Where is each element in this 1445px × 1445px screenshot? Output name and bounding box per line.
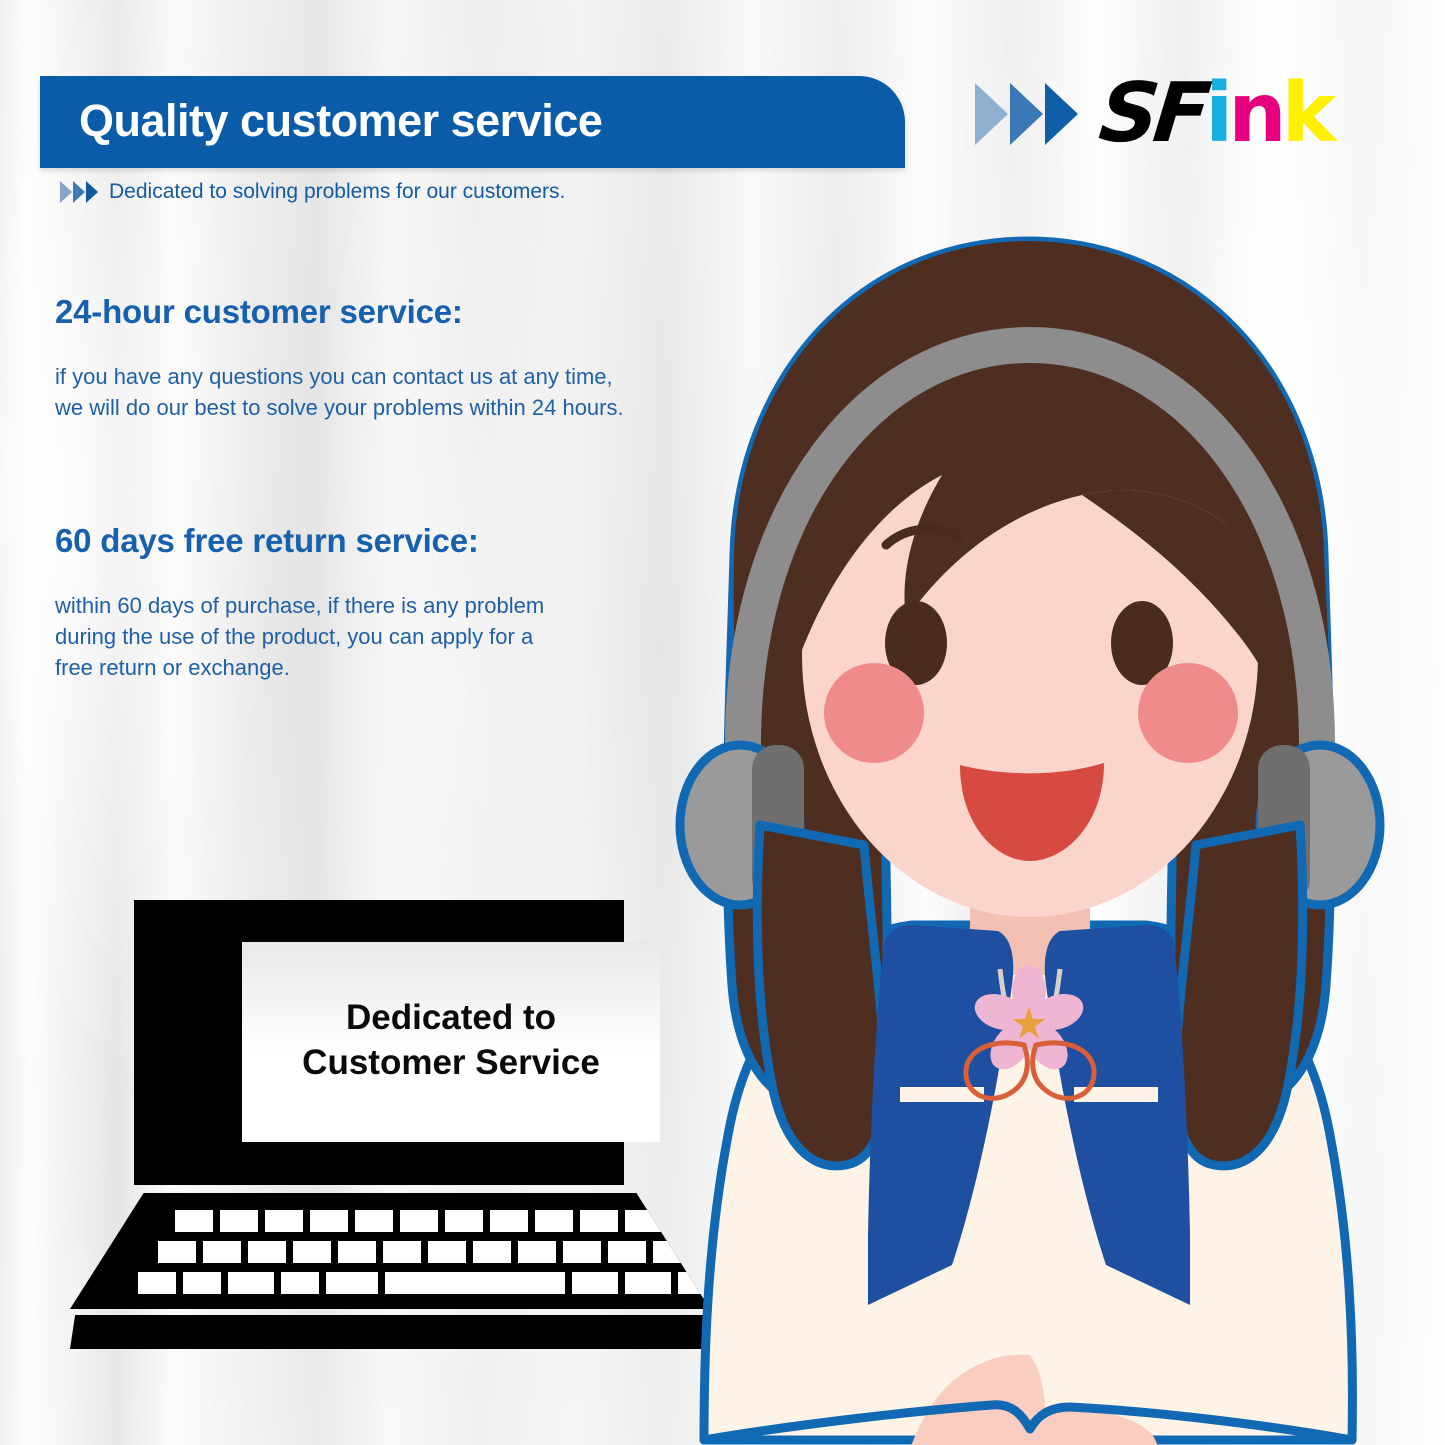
keyboard-key — [338, 1241, 376, 1263]
section-heading: 24-hour customer service: — [55, 293, 624, 331]
keyboard-key — [228, 1272, 274, 1294]
agent-blush-right — [1138, 663, 1238, 763]
screen-line-1: Dedicated to — [242, 995, 660, 1040]
agent-hair-lock-right — [1175, 825, 1303, 1166]
section-body-line: during the use of the product, you can a… — [55, 621, 544, 652]
keyboard-key — [563, 1241, 601, 1263]
keyboard-key — [138, 1272, 176, 1294]
service-section-24h: 24-hour customer service: if you have an… — [55, 293, 624, 423]
customer-service-agent-illustration — [612, 225, 1445, 1445]
page-title: Quality customer service — [79, 95, 602, 147]
section-heading: 60 days free return service: — [55, 522, 544, 560]
logo-chevron-icon — [975, 83, 1078, 145]
keyboard-key — [248, 1241, 286, 1263]
logo-letter-i: i — [1205, 80, 1228, 147]
keyboard-key — [326, 1272, 378, 1294]
section-body-line: free return or exchange. — [55, 652, 544, 683]
screen-line-2: Customer Service — [242, 1040, 660, 1085]
logo-letter-k: k — [1282, 80, 1332, 147]
agent-hair-lock-left — [757, 825, 885, 1166]
keyboard-key — [385, 1272, 565, 1294]
keyboard-key — [535, 1210, 573, 1232]
keyboard-key — [281, 1272, 319, 1294]
section-body-line: within 60 days of purchase, if there is … — [55, 590, 544, 621]
logo-letter-s: S — [1096, 80, 1157, 147]
keyboard-key — [158, 1241, 196, 1263]
keyboard-key — [355, 1210, 393, 1232]
section-body-line: we will do our best to solve your proble… — [55, 392, 624, 423]
brand-logo: S F i n k — [975, 80, 1331, 147]
keyboard-key — [490, 1210, 528, 1232]
keyboard-key — [518, 1241, 556, 1263]
section-body: within 60 days of purchase, if there is … — [55, 590, 544, 683]
keyboard-key — [400, 1210, 438, 1232]
logo-letter-f: F — [1151, 80, 1209, 147]
chevron-bullet-icon — [60, 181, 98, 203]
laptop-lid: Dedicated to Customer Service — [134, 900, 624, 1185]
keyboard-key — [310, 1210, 348, 1232]
keyboard-key — [445, 1210, 483, 1232]
tagline-text: Dedicated to solving problems for our cu… — [109, 180, 565, 204]
keyboard-key — [473, 1241, 511, 1263]
service-section-return: 60 days free return service: within 60 d… — [55, 522, 544, 683]
keyboard-key — [175, 1210, 213, 1232]
tagline-row: Dedicated to solving problems for our cu… — [60, 180, 565, 204]
laptop-screen: Dedicated to Customer Service — [242, 942, 660, 1142]
infographic-page: Quality customer service Dedicated to so… — [0, 0, 1445, 1445]
logo-letter-n: n — [1228, 80, 1281, 147]
header-banner: Quality customer service — [40, 76, 905, 168]
keyboard-key — [293, 1241, 331, 1263]
section-body: if you have any questions you can contac… — [55, 361, 624, 423]
agent-blush-left — [824, 663, 924, 763]
keyboard-key — [428, 1241, 466, 1263]
laptop-screen-text: Dedicated to Customer Service — [242, 995, 660, 1085]
keyboard-key — [183, 1272, 221, 1294]
keyboard-key — [220, 1210, 258, 1232]
section-body-line: if you have any questions you can contac… — [55, 361, 624, 392]
keyboard-key — [265, 1210, 303, 1232]
logo-wordmark: S F i n k — [1100, 80, 1331, 147]
keyboard-key — [203, 1241, 241, 1263]
keyboard-key — [383, 1241, 421, 1263]
